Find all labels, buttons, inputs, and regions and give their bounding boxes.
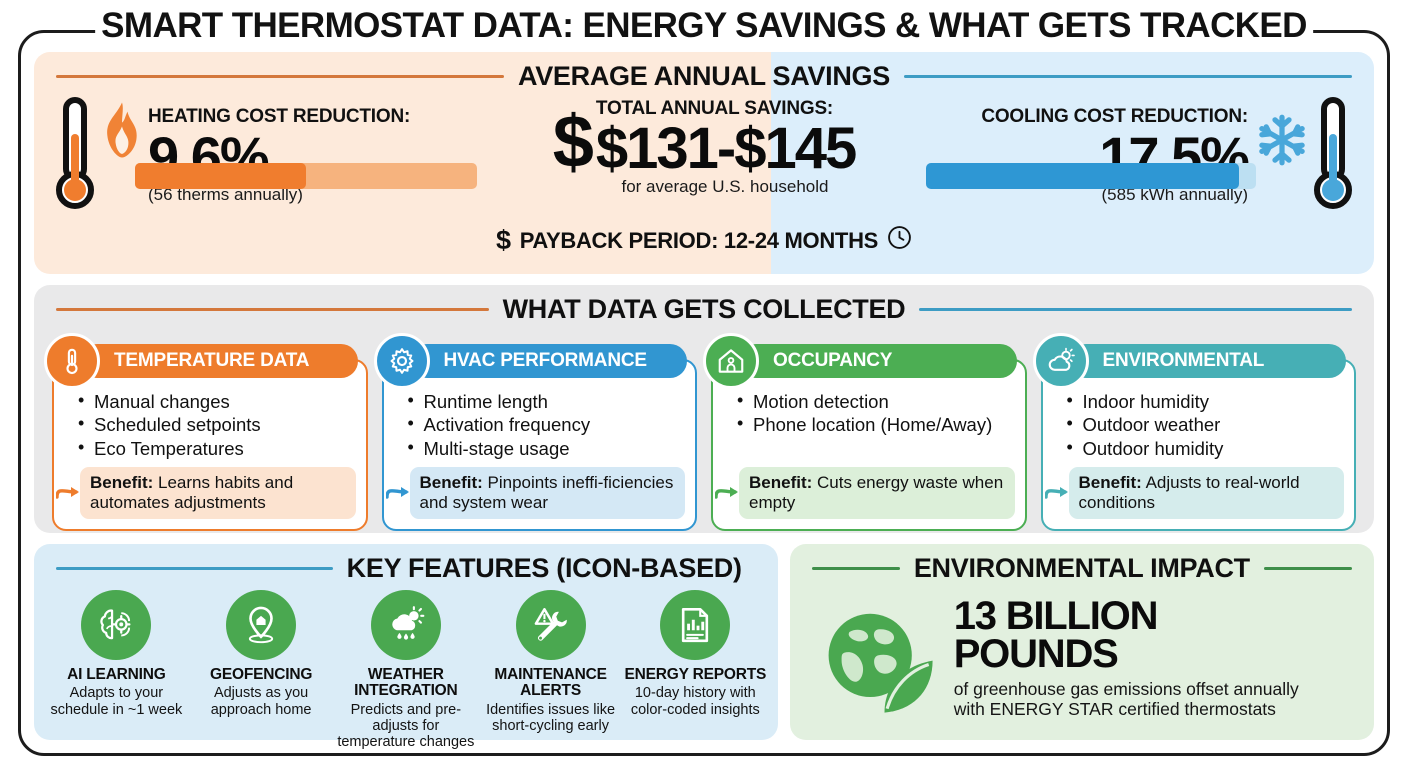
rule-right: [919, 308, 1352, 311]
feature-title: AI LEARNING: [67, 667, 166, 683]
benefit-label: Benefit:: [1079, 473, 1142, 492]
bullet-text: Outdoor weather: [1083, 414, 1221, 435]
card-title-occupancy: OCCUPANCY: [739, 344, 1017, 378]
rule-left: [56, 308, 489, 311]
savings-header-title: AVERAGE ANNUAL SAVINGS: [518, 61, 890, 92]
benefit-box: Benefit: Cuts energy waste when empty: [739, 467, 1015, 519]
bullet-text: Indoor humidity: [1083, 391, 1209, 412]
heating-progress-fill: [135, 163, 306, 189]
card-title-temperature: TEMPERATURE DATA: [80, 344, 358, 378]
list-item: Outdoor humidity: [1067, 438, 1345, 459]
bullet-list: Manual changes Scheduled setpoints Eco T…: [64, 391, 356, 461]
arrow-right-icon: [715, 483, 741, 503]
home-person-icon: [703, 333, 759, 389]
savings-section-header: AVERAGE ANNUAL SAVINGS: [34, 52, 1374, 94]
bullet-list: Motion detection Phone location (Home/Aw…: [723, 391, 1015, 438]
dollar-sign-icon: $: [496, 225, 511, 256]
brain-gear-icon: [81, 590, 151, 660]
benefit-box: Benefit: Pinpoints ineffi-ficiencies and…: [410, 467, 686, 519]
list-item: Eco Temperatures: [78, 438, 356, 459]
gear-icon: [374, 333, 430, 389]
list-item: Multi-stage usage: [408, 438, 686, 459]
total-value: $131-$145: [596, 121, 855, 176]
flame-icon: [100, 100, 144, 165]
features-section-header: KEY FEATURES (ICON-BASED): [34, 544, 778, 584]
bullet-text: Outdoor humidity: [1083, 438, 1224, 459]
feature-desc: 10-day history with color-coded insights: [623, 685, 768, 717]
list-item: Activation frequency: [408, 414, 686, 435]
report-chart-icon: [660, 590, 730, 660]
benefit-label: Benefit:: [749, 473, 812, 492]
data-card-temperature[interactable]: TEMPERATURE DATA Manual changes Schedule…: [52, 359, 368, 531]
feature-geofencing[interactable]: GEOFENCING Adjusts as you approach home: [189, 590, 334, 751]
cloud-rain-sun-icon: [371, 590, 441, 660]
key-features-panel: KEY FEATURES (ICON-BASED) AI LEARNING Ad…: [34, 544, 778, 740]
rule-right: [1264, 567, 1352, 570]
rule-left: [812, 567, 900, 570]
arrow-right-icon: [56, 483, 82, 503]
heating-stat-block: HEATING COST REDUCTION: 9.6% (56 therms …: [52, 94, 495, 219]
collected-header-title: WHAT DATA GETS COLLECTED: [503, 294, 906, 325]
feature-desc: Predicts and pre-adjusts for temperature…: [333, 702, 478, 751]
benefit-label: Benefit:: [90, 473, 153, 492]
average-annual-savings-panel: AVERAGE ANNUAL SAVINGS: [34, 52, 1374, 274]
benefit-box: Benefit: Adjusts to real-world condition…: [1069, 467, 1345, 519]
features-header-title: KEY FEATURES (ICON-BASED): [347, 553, 742, 584]
thermometer-icon: [44, 333, 100, 389]
environmental-impact-panel: ENVIRONMENTAL IMPACT: [790, 544, 1374, 740]
feature-title: WEATHER INTEGRATION: [333, 667, 478, 700]
feature-title: ENERGY REPORTS: [624, 667, 766, 683]
payback-text: PAYBACK PERIOD: 12-24 MONTHS: [520, 228, 878, 254]
impact-section-header: ENVIRONMENTAL IMPACT: [790, 544, 1374, 586]
dollar-sign-icon: $: [553, 112, 594, 171]
card-title-environmental: ENVIRONMENTAL: [1069, 344, 1347, 378]
cooling-stat-block: COOLING COST REDUCTION: 17.5% (585 kWh a…: [913, 94, 1356, 219]
payback-period-row: $ PAYBACK PERIOD: 12-24 MONTHS: [34, 225, 1374, 256]
impact-big-line1: 13 BILLION: [954, 597, 1352, 635]
snowflake-icon: [1254, 104, 1310, 181]
impact-sub-line1: of greenhouse gas emissions offset annua…: [954, 679, 1352, 699]
rule-left: [56, 567, 333, 570]
bullet-text: Activation frequency: [424, 414, 591, 435]
arrow-right-icon: [386, 483, 412, 503]
heating-progress-bar: [135, 163, 477, 189]
cooling-progress-bar: [926, 163, 1256, 189]
feature-weather-integration[interactable]: WEATHER INTEGRATION Predicts and pre-adj…: [333, 590, 478, 751]
feature-desc: Adjusts as you approach home: [189, 685, 334, 717]
bullet-text: Phone location (Home/Away): [753, 414, 992, 435]
bullet-list: Indoor humidity Outdoor weather Outdoor …: [1053, 391, 1345, 461]
bullet-text: Runtime length: [424, 391, 548, 412]
arrow-right-icon: [1045, 483, 1071, 503]
feature-ai-learning[interactable]: AI LEARNING Adapts to your schedule in ~…: [44, 590, 189, 751]
feature-energy-reports[interactable]: ENERGY REPORTS 10-day history with color…: [623, 590, 768, 751]
bullet-text: Scheduled setpoints: [94, 414, 261, 435]
impact-header-title: ENVIRONMENTAL IMPACT: [914, 553, 1250, 584]
weather-cloud-sun-icon: [1033, 333, 1089, 389]
list-item: Phone location (Home/Away): [737, 414, 1015, 435]
location-pin-home-icon: [226, 590, 296, 660]
what-data-gets-collected-panel: WHAT DATA GETS COLLECTED TEMPERATURE DAT…: [34, 285, 1374, 533]
data-card-hvac[interactable]: HVAC PERFORMANCE Runtime length Activati…: [382, 359, 698, 531]
data-card-environmental[interactable]: ENVIRONMENTAL Indoor humidity Outdoor we…: [1041, 359, 1357, 531]
bullet-text: Motion detection: [753, 391, 889, 412]
feature-title: MAINTENANCE ALERTS: [478, 667, 623, 700]
impact-sub-line2: with ENERGY STAR certified thermostats: [954, 699, 1352, 719]
list-item: Outdoor weather: [1067, 414, 1345, 435]
page-title: SMART THERMOSTAT DATA: ENERGY SAVINGS & …: [95, 6, 1313, 46]
list-item: Runtime length: [408, 391, 686, 412]
clock-icon: [887, 225, 912, 256]
card-title-hvac: HVAC PERFORMANCE: [410, 344, 688, 378]
thermometer-hot-icon: [52, 94, 98, 219]
collected-section-header: WHAT DATA GETS COLLECTED: [34, 285, 1374, 327]
wrench-warning-icon: [516, 590, 586, 660]
cooling-progress-fill: [926, 163, 1240, 189]
list-item: Manual changes: [78, 391, 356, 412]
globe-leaf-icon: [808, 593, 948, 723]
benefit-box: Benefit: Learns habits and automates adj…: [80, 467, 356, 519]
benefit-label: Benefit:: [420, 473, 483, 492]
total-savings-block: $ TOTAL ANNUAL SAVINGS: $131-$145 for av…: [495, 94, 912, 197]
list-item: Scheduled setpoints: [78, 414, 356, 435]
bullet-text: Eco Temperatures: [94, 438, 244, 459]
feature-maintenance-alerts[interactable]: MAINTENANCE ALERTS Identifies issues lik…: [478, 590, 623, 751]
list-item: Motion detection: [737, 391, 1015, 412]
thermometer-cold-icon: [1310, 94, 1356, 219]
feature-desc: Adapts to your schedule in ~1 week: [44, 685, 189, 717]
impact-big-line2: POUNDS: [954, 635, 1352, 673]
rule-right: [904, 75, 1352, 78]
bullet-list: Runtime length Activation frequency Mult…: [394, 391, 686, 461]
feature-title: GEOFENCING: [210, 667, 312, 683]
feature-desc: Identifies issues like short-cycling ear…: [478, 702, 623, 734]
rule-left: [56, 75, 504, 78]
bullet-text: Manual changes: [94, 391, 230, 412]
list-item: Indoor humidity: [1067, 391, 1345, 412]
bullet-text: Multi-stage usage: [424, 438, 570, 459]
data-card-occupancy[interactable]: OCCUPANCY Motion detection Phone locatio…: [711, 359, 1027, 531]
